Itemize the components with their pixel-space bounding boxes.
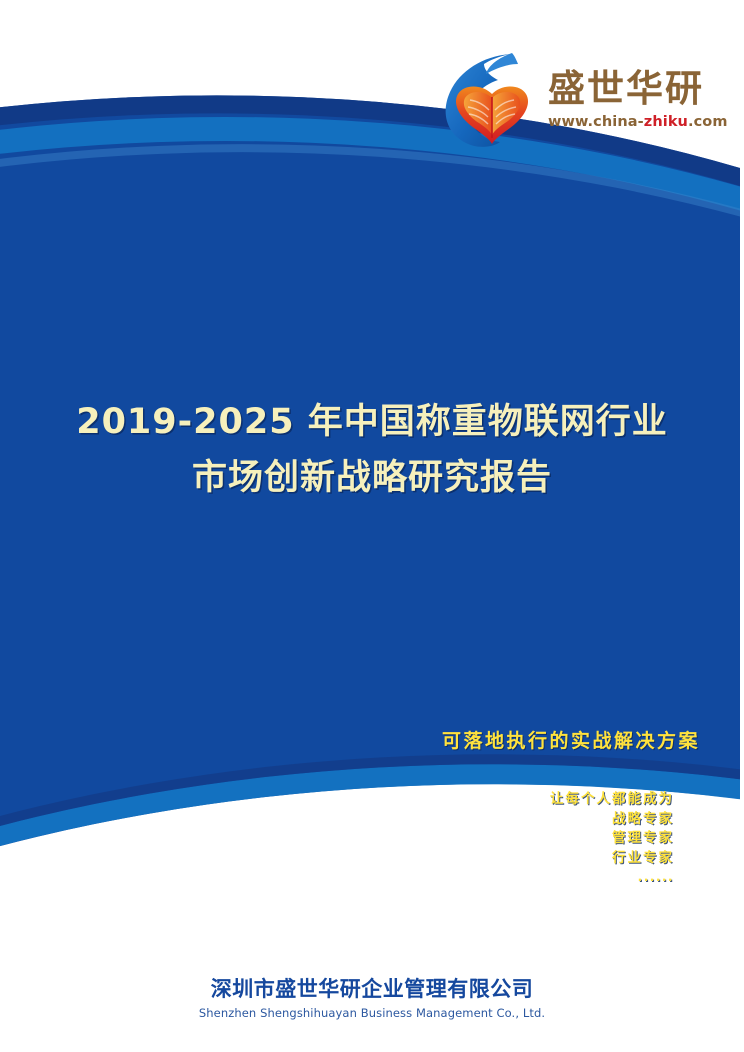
expert-item-industry: 行业专家 [0,849,674,869]
expert-tagline-list: 让每个人都能成为 战略专家 管理专家 行业专家 ...... [0,790,674,886]
website-prefix: www.china- [548,114,644,130]
report-cover-page: 盛世华研 www.china-zhiku.com 2019-2025 年中国称重… [0,0,744,1052]
brand-logo: 盛世华研 www.china-zhiku.com [440,44,712,156]
website-suffix: .com [688,114,728,130]
website-accent: zhiku [644,114,688,130]
expert-item-strategy: 战略专家 [0,810,674,830]
title-line-2: 市场创新战略研究报告 [0,454,744,502]
expert-lead-line: 让每个人都能成为 [0,790,674,810]
expert-ellipsis: ...... [0,868,674,886]
title-line-1: 2019-2025 年中国称重物联网行业 [0,398,744,446]
report-title: 2019-2025 年中国称重物联网行业 市场创新战略研究报告 [0,398,744,502]
publisher-footer: 深圳市盛世华研企业管理有限公司 Shenzhen Shengshihuayan … [0,976,744,1021]
publisher-name-cn: 深圳市盛世华研企业管理有限公司 [0,976,744,1003]
flame-swoosh-open-book-logo-icon [440,50,544,150]
decorative-background-shapes [0,0,744,1052]
expert-item-management: 管理专家 [0,829,674,849]
brand-name-cn: 盛世华研 [548,70,728,109]
right-margin-strip [740,0,744,1052]
publisher-name-en: Shenzhen Shengshihuayan Business Managem… [0,1006,744,1021]
brand-logo-text: 盛世华研 www.china-zhiku.com [548,70,728,130]
brand-website: www.china-zhiku.com [548,114,728,130]
report-subtagline: 可落地执行的实战解决方案 [0,726,700,753]
